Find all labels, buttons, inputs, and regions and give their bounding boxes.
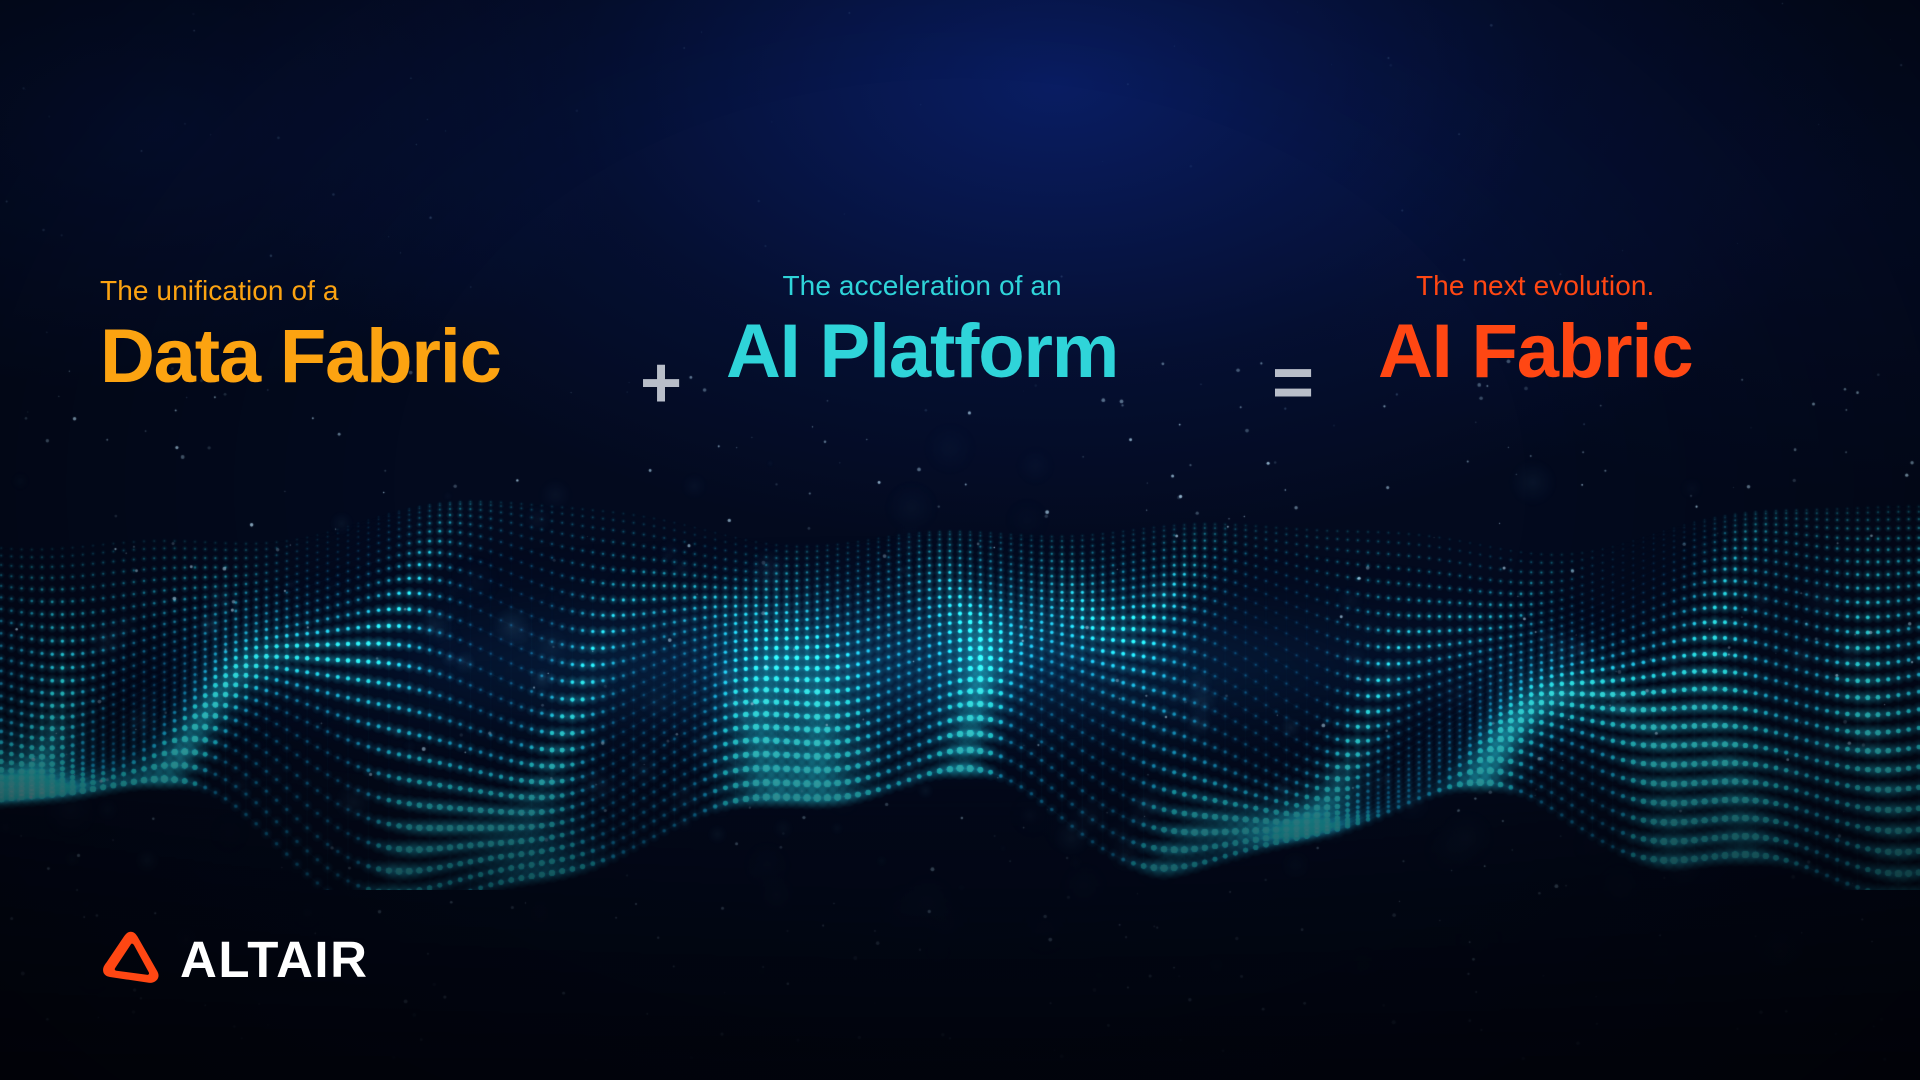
headline-equation: The unification of a Data Fabric + The a… bbox=[0, 255, 1920, 455]
altair-triangle-mark-icon bbox=[100, 928, 162, 990]
equation-term-ai-platform: The acceleration of an AI Platform bbox=[726, 272, 1118, 390]
term-ai-fabric: AI Fabric bbox=[1378, 314, 1692, 390]
background-bottom-fade bbox=[0, 660, 1920, 1080]
slide-canvas: The unification of a Data Fabric + The a… bbox=[0, 0, 1920, 1080]
kicker-ai-fabric: The next evolution. bbox=[1378, 272, 1692, 300]
term-data-fabric: Data Fabric bbox=[100, 319, 501, 395]
term-ai-platform: AI Platform bbox=[726, 314, 1118, 390]
operator-plus: + bbox=[640, 347, 682, 419]
operator-equals: = bbox=[1272, 347, 1314, 419]
altair-wordmark: ALTAIR bbox=[180, 934, 368, 985]
equation-term-ai-fabric: The next evolution. AI Fabric bbox=[1378, 272, 1692, 390]
kicker-ai-platform: The acceleration of an bbox=[726, 272, 1118, 300]
equation-term-data-fabric: The unification of a Data Fabric bbox=[100, 277, 501, 395]
altair-logo: ALTAIR bbox=[100, 928, 368, 990]
kicker-data-fabric: The unification of a bbox=[100, 277, 501, 305]
